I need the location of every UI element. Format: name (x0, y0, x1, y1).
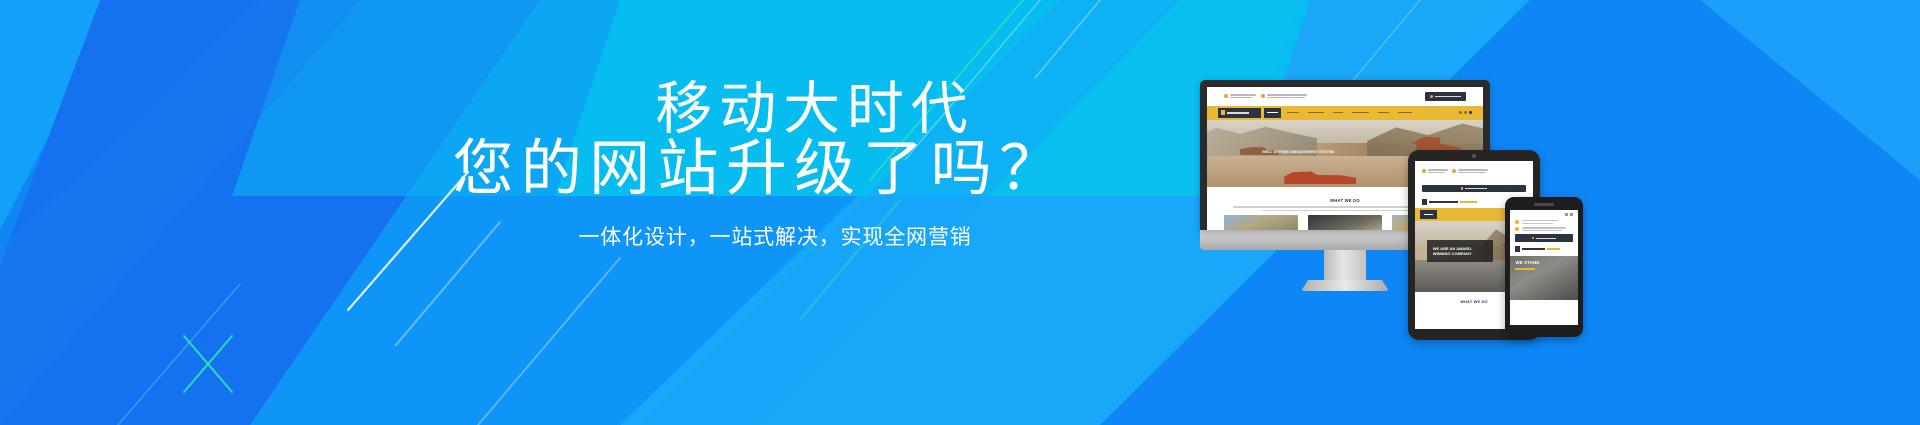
site-logo[interactable] (1218, 108, 1261, 118)
nav-item-news[interactable] (1330, 108, 1346, 118)
tablet-logo-accent (1460, 201, 1477, 203)
phone-hero-underline (1515, 268, 1534, 270)
quote-label (1465, 188, 1487, 189)
device-mockup-group: WELL DEFINED MANAGEMENT SYSTEM WHAT WE D… (1160, 0, 1920, 425)
phone-contact-phone (1515, 220, 1572, 224)
quote-icon (1461, 187, 1464, 190)
quote-icon (1430, 95, 1433, 98)
phone-logo-text (1522, 248, 1545, 250)
site-navbar (1207, 106, 1483, 120)
nav-item-services[interactable] (1305, 108, 1327, 118)
site-quote-button[interactable] (1425, 92, 1466, 101)
phone-menu-icon[interactable] (1570, 213, 1573, 216)
monitor-stand-neck (1324, 250, 1366, 280)
phone-screen: WE STAND (1510, 210, 1578, 325)
clock-icon (1452, 169, 1456, 173)
tablet-hero-caption: WE ARE AN AWARD-WINNING COMPANY (1427, 240, 1493, 262)
tablet-cta-row (1415, 181, 1533, 196)
cart-icon[interactable] (1469, 111, 1472, 114)
phone-logo-mark-icon (1515, 246, 1520, 252)
phone-hours-lines (1522, 227, 1573, 231)
contact-hours (1261, 94, 1307, 98)
nav-item-team[interactable] (1375, 108, 1392, 118)
phone-icon (1515, 220, 1519, 224)
site-topbar (1207, 87, 1483, 106)
contact-phone (1224, 94, 1256, 98)
contact-phone-lines (1230, 94, 1256, 98)
clock-icon (1261, 94, 1265, 98)
phone-icon (1422, 169, 1426, 173)
tablet-quote-button[interactable] (1422, 185, 1526, 192)
phone-hero-title: WE STAND (1515, 260, 1572, 265)
nav-item-contact[interactable] (1395, 108, 1415, 118)
thumbnail-road[interactable] (1224, 215, 1299, 230)
tablet-hero-title: WE ARE AN AWARD-WINNING COMPANY (1433, 246, 1473, 256)
logo-mark-icon (1221, 110, 1225, 115)
tablet-phone-lines (1428, 169, 1448, 173)
nav-item-portfolio[interactable] (1349, 108, 1372, 118)
logo-text (1227, 112, 1249, 114)
quote-label (1435, 96, 1461, 98)
tablet-camera-icon (1472, 154, 1476, 158)
promo-banner: 移动大时代 您的网站升级了吗？ 一体化设计，一站式解决，实现全网营销 (0, 0, 1920, 425)
phone-contact-lines (1522, 220, 1573, 224)
contact-hours-lines (1267, 94, 1307, 98)
clock-icon (1515, 227, 1519, 231)
phone-contact-hours (1515, 227, 1572, 231)
phone-logo-accent (1547, 248, 1560, 250)
phone-quote-button[interactable] (1515, 234, 1572, 242)
tablet-contact-info (1422, 169, 1484, 173)
phone-website-preview: WE STAND (1510, 210, 1578, 325)
thumbnail-tunnel[interactable] (1308, 215, 1383, 230)
phone-speaker-icon (1534, 203, 1554, 206)
tablet-logo-mark-icon (1422, 199, 1427, 205)
tablet-nav-item-home[interactable] (1420, 210, 1437, 219)
search-icon[interactable] (1459, 111, 1462, 114)
tablet-hours-lines (1458, 169, 1488, 173)
phone-contact-block (1510, 216, 1578, 231)
nav-item-about[interactable] (1284, 108, 1302, 118)
phone-search-icon[interactable] (1565, 213, 1568, 216)
smartphone-device: WE STAND (1505, 197, 1583, 337)
phone-icon (1224, 94, 1228, 98)
nav-utility-icons[interactable] (1459, 111, 1472, 114)
tablet-site-topbar (1415, 161, 1533, 181)
quote-icon (1532, 237, 1535, 240)
quote-label (1536, 238, 1556, 239)
phone-logo[interactable] (1515, 246, 1572, 252)
site-contact-info (1224, 94, 1302, 98)
hero-caption: WELL DEFINED MANAGEMENT SYSTEM (1246, 136, 1417, 168)
tablet-contact-phone (1422, 169, 1448, 173)
nav-item-home[interactable] (1264, 108, 1281, 118)
tablet-contact-hours (1452, 169, 1488, 173)
tablet-logo-text (1429, 201, 1458, 203)
phone-hero: WE STAND (1510, 256, 1578, 300)
monitor-stand-foot (1301, 280, 1389, 291)
user-icon[interactable] (1464, 111, 1467, 114)
